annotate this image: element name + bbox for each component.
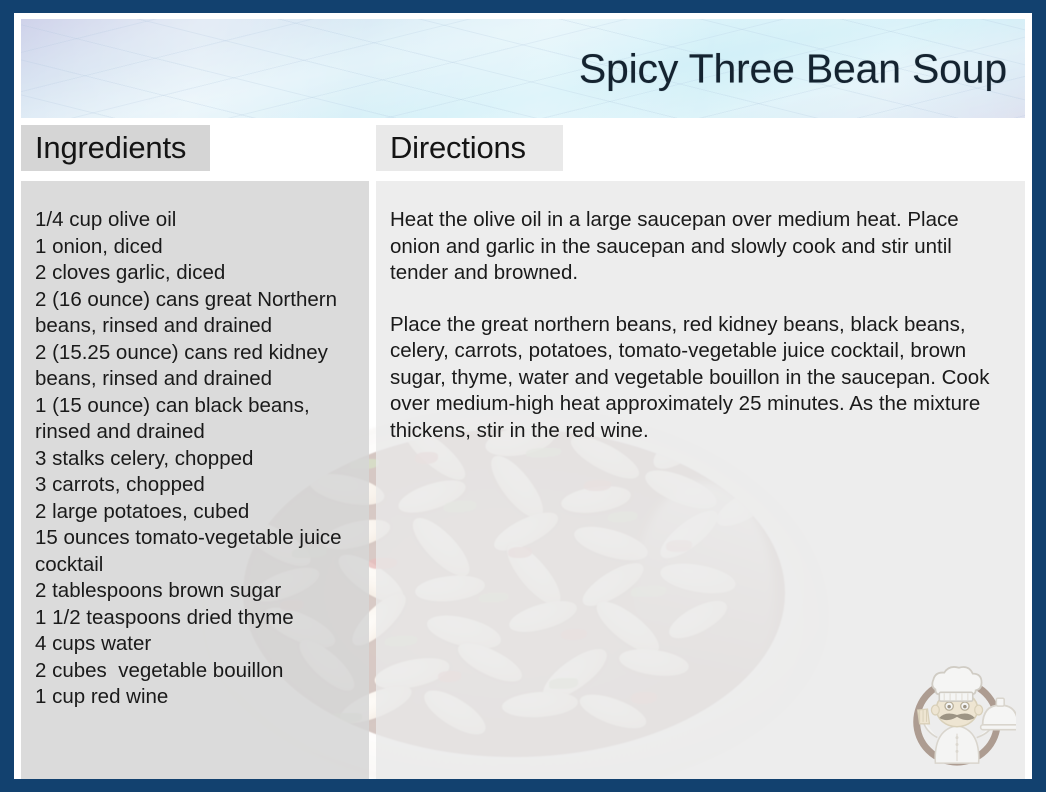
list-item: 1 (15 ounce) can black beans, rinsed and… (35, 393, 353, 446)
directions-paragraph: Heat the olive oil in a large saucepan o… (390, 207, 1009, 287)
recipe-card: Spicy Three Bean Soup (14, 13, 1032, 779)
slide-frame: Spicy Three Bean Soup (0, 0, 1046, 792)
ingredients-tab: Ingredients (21, 125, 210, 171)
list-item: 2 large potatoes, cubed (35, 499, 353, 526)
content-panels: Ingredients 1/4 cup olive oil 1 onion, d… (14, 125, 1032, 779)
list-item: 2 (16 ounce) cans great Northern beans, … (35, 287, 353, 340)
list-item: 4 cups water (35, 631, 353, 658)
list-item: 1 onion, diced (35, 234, 353, 261)
ingredients-heading: Ingredients (35, 130, 186, 166)
directions-heading: Directions (390, 130, 526, 166)
title-banner: Spicy Three Bean Soup (21, 19, 1025, 118)
page-title: Spicy Three Bean Soup (579, 45, 1007, 92)
list-item: 1 cup red wine (35, 684, 353, 711)
list-item: 2 tablespoons brown sugar (35, 578, 353, 605)
list-item: 3 stalks celery, chopped (35, 446, 353, 473)
list-item: 15 ounces tomato-vegetable juice cocktai… (35, 525, 353, 578)
directions-paragraph: Place the great northern beans, red kidn… (390, 312, 1009, 445)
list-item: 1 1/2 teaspoons dried thyme (35, 605, 353, 632)
list-item: 2 cubes vegetable bouillon (35, 658, 353, 685)
ingredients-list: 1/4 cup olive oil 1 onion, diced 2 clove… (35, 207, 353, 711)
directions-panel: Heat the olive oil in a large saucepan o… (376, 181, 1025, 779)
directions-tab: Directions (376, 125, 563, 171)
list-item: 3 carrots, chopped (35, 472, 353, 499)
list-item: 2 (15.25 ounce) cans red kidney beans, r… (35, 340, 353, 393)
list-item: 2 cloves garlic, diced (35, 260, 353, 287)
list-item: 1/4 cup olive oil (35, 207, 353, 234)
ingredients-panel: 1/4 cup olive oil 1 onion, diced 2 clove… (21, 181, 369, 779)
